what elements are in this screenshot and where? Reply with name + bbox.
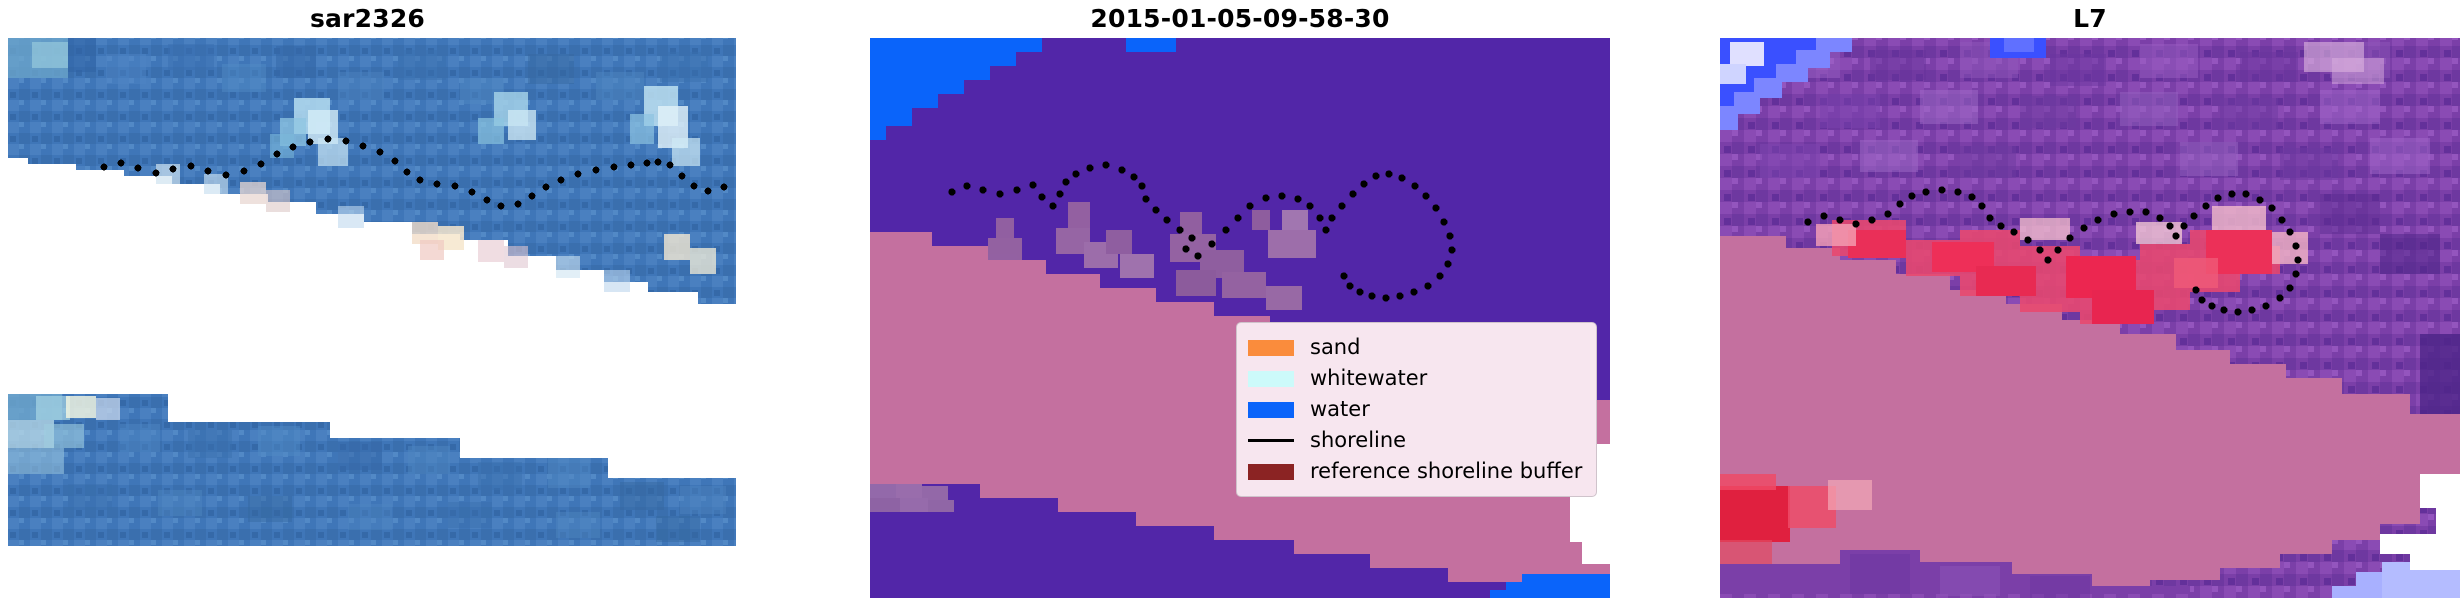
legend-item-shoreline: shoreline: [1248, 425, 1582, 456]
panel-classification-image: sand whitewater water shoreline referenc…: [870, 34, 1610, 604]
legend-item-reference-shoreline-buffer: reference shoreline buffer: [1248, 456, 1582, 487]
panel-l7-image: [1720, 34, 2460, 604]
water-swatch: [1248, 402, 1294, 418]
legend-label-whitewater: whitewater: [1310, 368, 1427, 389]
figure-root: sar2326: [0, 0, 2460, 604]
panel-sar2326: sar2326: [0, 0, 735, 604]
reference-shoreline-buffer-swatch: [1248, 464, 1294, 480]
panel-classification-title: 2015-01-05-09-58-30: [870, 4, 1610, 33]
legend-item-sand: sand: [1248, 332, 1582, 363]
legend-label-water: water: [1310, 399, 1370, 420]
shoreline-line-swatch: [1248, 439, 1294, 442]
panel-sar2326-title: sar2326: [0, 4, 735, 33]
panel-l7-title: L7: [1720, 4, 2460, 33]
legend-label-shoreline: shoreline: [1310, 430, 1406, 451]
legend-label-sand: sand: [1310, 337, 1360, 358]
sand-swatch: [1248, 340, 1294, 356]
whitewater-swatch: [1248, 371, 1294, 387]
legend-label-reference-shoreline-buffer: reference shoreline buffer: [1310, 461, 1582, 482]
legend: sand whitewater water shoreline referenc…: [1236, 322, 1597, 497]
legend-item-whitewater: whitewater: [1248, 363, 1582, 394]
legend-item-water: water: [1248, 394, 1582, 425]
panel-l7: L7: [1720, 0, 2460, 604]
panel-sar2326-image: [8, 34, 736, 604]
panel-classification: 2015-01-05-09-58-30: [870, 0, 1610, 604]
